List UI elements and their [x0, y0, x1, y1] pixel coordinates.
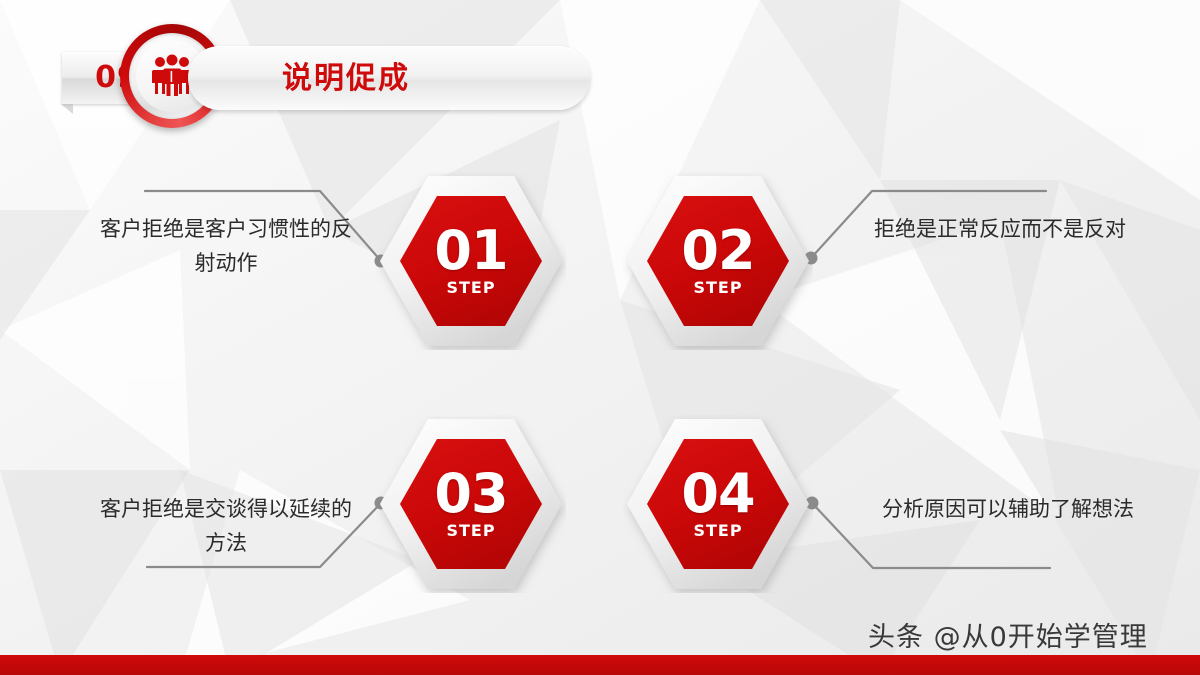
connector-lines [0, 0, 1200, 675]
step-caption-01: 客户拒绝是客户习惯性的反射动作 [92, 212, 360, 280]
step-caption-04: 分析原因可以辅助了解想法 [874, 492, 1142, 526]
bottom-accent-bar [0, 655, 1200, 675]
hexagon-outer-shell [376, 415, 566, 593]
hexagon-outer-shell [623, 172, 813, 350]
step-hexagon-04[interactable]: 04 STEP [623, 415, 813, 593]
slide-canvas: 09 [0, 0, 1200, 675]
step-caption-02: 拒绝是正常反应而不是反对 [866, 212, 1134, 246]
step-hexagon-02[interactable]: 02 STEP [623, 172, 813, 350]
hexagon-outer-shell [623, 415, 813, 593]
step-hexagon-01[interactable]: 01 STEP [376, 172, 566, 350]
watermark: 头条 @从0开始学管理 [868, 618, 1188, 658]
step-caption-03: 客户拒绝是交谈得以延续的方法 [92, 492, 360, 560]
step-hexagon-03[interactable]: 03 STEP [376, 415, 566, 593]
hexagon-outer-shell [376, 172, 566, 350]
